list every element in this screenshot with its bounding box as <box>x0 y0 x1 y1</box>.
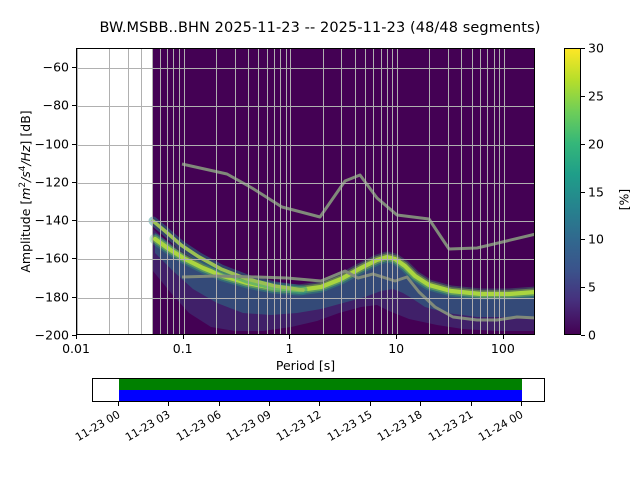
x-gridline-minor <box>128 49 129 334</box>
x-gridline-minor <box>323 49 324 334</box>
colorbar-tick-label: 10 <box>588 232 604 247</box>
colorbar-tick-mark <box>581 239 585 240</box>
x-gridline-major <box>184 49 185 334</box>
colorbar-tick-label: 0 <box>588 328 596 343</box>
timeline-tick-label: 11-23 09 <box>224 408 273 444</box>
y-tick-mark <box>72 182 76 183</box>
x-gridline-minor <box>267 49 268 334</box>
ppsd-axes[interactable] <box>76 48 535 335</box>
ppsd-figure: BW.MSBB..BHN 2025-11-23 -- 2025-11-23 (4… <box>0 0 640 480</box>
colorbar-tick-label: 25 <box>588 88 604 103</box>
colorbar-tick-mark <box>581 287 585 288</box>
x-gridline-minor <box>448 49 449 334</box>
y-axis-title: Amplitude [m2/s4/Hz] [dB] <box>18 48 34 335</box>
timeline-tick-mark <box>269 402 270 406</box>
x-gridline-minor <box>109 49 110 334</box>
timeline-tick-label: 11-23 06 <box>174 408 223 444</box>
x-gridline-minor <box>373 49 374 334</box>
y-gridline <box>77 68 534 69</box>
coverage-bar-green <box>119 379 522 390</box>
x-gridline-minor <box>258 49 259 334</box>
timeline-tick-label: 11-23 15 <box>325 408 374 444</box>
timeline-tick-label: 11-24 00 <box>476 408 525 444</box>
x-gridline-minor <box>461 49 462 334</box>
x-tick-label: 10 <box>388 341 404 356</box>
y-tick-label: −140 <box>35 213 69 228</box>
timeline-tick-mark <box>219 402 220 406</box>
y-gridline <box>77 221 534 222</box>
timeline-tick-label: 11-23 00 <box>73 408 122 444</box>
x-tick-mark <box>183 335 184 339</box>
y-tick-mark <box>72 67 76 68</box>
timeline-tick-mark <box>471 402 472 406</box>
timeline-tick-mark <box>118 402 119 406</box>
y-gridline <box>77 298 534 299</box>
timeline-tick-mark <box>521 402 522 406</box>
y-tick-label: −180 <box>35 289 69 304</box>
timeline-tick-label: 11-23 12 <box>275 408 324 444</box>
y-tick-label: −80 <box>43 98 69 113</box>
colorbar-tick-label: 30 <box>588 41 604 56</box>
x-gridline-minor <box>152 49 153 334</box>
timeline-tick-label: 11-23 21 <box>426 408 475 444</box>
x-gridline-minor <box>280 49 281 334</box>
x-gridline-minor <box>167 49 168 334</box>
colorbar-tick-mark <box>581 144 585 145</box>
x-gridline-minor <box>286 49 287 334</box>
x-tick-label: 1 <box>285 341 293 356</box>
x-tick-label: 100 <box>491 341 515 356</box>
y-tick-label: −100 <box>35 136 69 151</box>
timeline-tick-mark <box>420 402 421 406</box>
ppsd-histogram-field <box>152 49 535 334</box>
x-gridline-minor <box>235 49 236 334</box>
x-gridline-minor <box>141 49 142 334</box>
data-coverage-axes[interactable] <box>92 378 545 402</box>
x-gridline-minor <box>248 49 249 334</box>
x-tick-mark <box>76 335 77 339</box>
timeline-tick-label: 11-23 03 <box>123 408 172 444</box>
x-gridline-major <box>290 49 291 334</box>
x-gridline-major <box>397 49 398 334</box>
y-tick-label: −60 <box>43 60 69 75</box>
colorbar-tick-label: 15 <box>588 184 604 199</box>
colorbar-tick-label: 5 <box>588 280 596 295</box>
x-gridline-minor <box>392 49 393 334</box>
y-tick-mark <box>72 258 76 259</box>
timeline-tick-mark <box>168 402 169 406</box>
timeline-tick-mark <box>370 402 371 406</box>
x-tick-mark <box>396 335 397 339</box>
x-gridline-minor <box>179 49 180 334</box>
x-gridline-minor <box>274 49 275 334</box>
x-gridline-major <box>504 49 505 334</box>
y-gridline <box>77 183 534 184</box>
x-tick-mark <box>503 335 504 339</box>
y-tick-label: −160 <box>35 251 69 266</box>
plot-title: BW.MSBB..BHN 2025-11-23 -- 2025-11-23 (4… <box>0 20 640 36</box>
ppsd-overlay-svg <box>77 49 535 335</box>
x-tick-label: 0.1 <box>173 341 193 356</box>
x-gridline-minor <box>381 49 382 334</box>
colorbar-tick-mark <box>581 335 585 336</box>
timeline-tick-label: 11-23 18 <box>375 408 424 444</box>
colorbar-tick-mark <box>581 48 585 49</box>
colorbar[interactable] <box>564 48 581 335</box>
y-gridline <box>77 106 534 107</box>
x-gridline-minor <box>429 49 430 334</box>
x-gridline-minor <box>494 49 495 334</box>
x-gridline-minor <box>355 49 356 334</box>
x-gridline-minor <box>499 49 500 334</box>
colorbar-title: [%] <box>616 189 631 211</box>
x-gridline-minor <box>341 49 342 334</box>
y-tick-mark <box>72 144 76 145</box>
x-gridline-minor <box>173 49 174 334</box>
y-tick-mark <box>72 105 76 106</box>
y-gridline <box>77 145 534 146</box>
x-gridline-minor <box>216 49 217 334</box>
coverage-bar-blue <box>119 390 522 401</box>
timeline-tick-mark <box>319 402 320 406</box>
x-axis-title: Period [s] <box>76 358 535 373</box>
x-gridline-major <box>77 49 78 334</box>
x-gridline-minor <box>480 49 481 334</box>
colorbar-tick-mark <box>581 192 585 193</box>
x-gridline-minor <box>472 49 473 334</box>
y-tick-mark <box>72 297 76 298</box>
x-tick-mark <box>289 335 290 339</box>
y-tick-mark <box>72 220 76 221</box>
y-tick-label: −120 <box>35 174 69 189</box>
x-gridline-minor <box>160 49 161 334</box>
y-gridline <box>77 259 534 260</box>
y-axis-title-text: Amplitude [m2/s4/Hz] [dB] <box>18 110 33 272</box>
colorbar-tick-label: 20 <box>588 136 604 151</box>
x-gridline-minor <box>387 49 388 334</box>
colorbar-tick-mark <box>581 96 585 97</box>
x-gridline-minor <box>365 49 366 334</box>
x-gridline-minor <box>487 49 488 334</box>
x-tick-label: 0.01 <box>62 341 90 356</box>
